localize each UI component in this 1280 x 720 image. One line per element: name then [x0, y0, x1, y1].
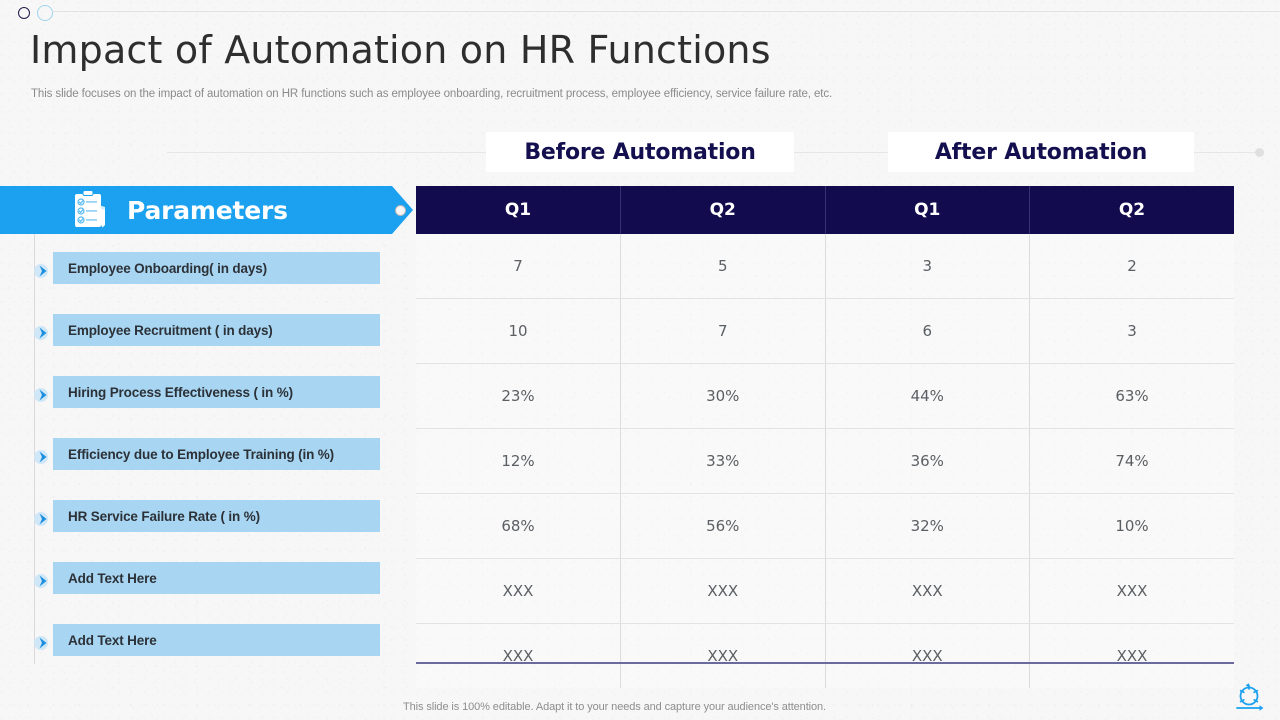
- top-divider-rule: [52, 11, 1280, 12]
- column-header: Q1: [825, 186, 1030, 234]
- parameter-label: Employee Recruitment ( in days): [68, 323, 273, 338]
- parameters-list: Employee Onboarding( in days)Employee Re…: [0, 244, 400, 678]
- table-baseline-rule: [416, 662, 1234, 664]
- parameter-label: Add Text Here: [68, 571, 157, 586]
- chevron-right-icon: [33, 261, 53, 281]
- table-cell: 32%: [825, 494, 1030, 559]
- table-body: 75321076323%30%44%63%12%33%36%74%68%56%3…: [416, 234, 1234, 688]
- top-decoration-bar: [0, 0, 1280, 24]
- table-cell: 3: [1030, 299, 1235, 364]
- list-item[interactable]: Efficiency due to Employee Training (in …: [0, 430, 400, 492]
- chevron-right-icon: [33, 509, 53, 529]
- table-cell: XXX: [416, 624, 621, 689]
- chevron-right-icon: [33, 571, 53, 591]
- chevron-right-icon: [33, 447, 53, 467]
- footer-note: This slide is 100% editable. Adapt it to…: [403, 701, 826, 713]
- parameter-chip[interactable]: Efficiency due to Employee Training (in …: [53, 438, 380, 470]
- table-cell: XXX: [1030, 624, 1235, 689]
- caption-after-automation: After Automation: [888, 132, 1194, 172]
- parameter-chip[interactable]: HR Service Failure Rate ( in %): [53, 500, 380, 532]
- table-row: 68%56%32%10%: [416, 494, 1234, 559]
- table-row: 12%33%36%74%: [416, 429, 1234, 494]
- parameter-chip[interactable]: Add Text Here: [53, 624, 380, 656]
- table-cell: 74%: [1030, 429, 1235, 494]
- table-cell: XXX: [825, 559, 1030, 624]
- parameter-label: Efficiency due to Employee Training (in …: [68, 447, 334, 462]
- table-cell: 23%: [416, 364, 621, 429]
- list-item[interactable]: Add Text Here: [0, 554, 400, 616]
- parameters-banner-label: Parameters: [127, 196, 288, 225]
- chevron-right-icon: [33, 633, 53, 653]
- parameter-chip[interactable]: Employee Recruitment ( in days): [53, 314, 380, 346]
- table-cell: 63%: [1030, 364, 1235, 429]
- table-cell: 6: [825, 299, 1030, 364]
- table-cell: XXX: [621, 624, 826, 689]
- table-cell: 7: [621, 299, 826, 364]
- table-cell: XXX: [825, 624, 1030, 689]
- table-row: 10763: [416, 299, 1234, 364]
- column-header: Q1: [416, 186, 621, 234]
- top-dot-light-icon: [37, 5, 53, 21]
- table-cell: XXX: [621, 559, 826, 624]
- chevron-right-icon: [33, 323, 53, 343]
- table-row: 23%30%44%63%: [416, 364, 1234, 429]
- parameter-label: Add Text Here: [68, 633, 157, 648]
- table-cell: 10%: [1030, 494, 1235, 559]
- table-cell: 12%: [416, 429, 621, 494]
- list-item[interactable]: Employee Onboarding( in days): [0, 244, 400, 306]
- page-title: Impact of Automation on HR Functions: [30, 28, 771, 72]
- list-item[interactable]: Hiring Process Effectiveness ( in %): [0, 368, 400, 430]
- banner-bracket-horizontal: [0, 233, 59, 234]
- table-cell: 36%: [825, 429, 1030, 494]
- table-cell: 3: [825, 234, 1030, 299]
- table-cell: 68%: [416, 494, 621, 559]
- clipboard-checklist-icon: [72, 190, 110, 230]
- table-row: 7532: [416, 234, 1234, 299]
- comparison-table: Q1Q2Q1Q2 75321076323%30%44%63%12%33%36%7…: [416, 186, 1234, 688]
- parameter-label: Hiring Process Effectiveness ( in %): [68, 385, 293, 400]
- parameters-banner-knob-icon: [395, 205, 406, 216]
- table-cell: 10: [416, 299, 621, 364]
- table-row: XXXXXXXXXXXX: [416, 624, 1234, 689]
- table-header-row: Q1Q2Q1Q2: [416, 186, 1234, 234]
- parameter-label: HR Service Failure Rate ( in %): [68, 509, 260, 524]
- table-cell: XXX: [1030, 559, 1235, 624]
- table-cell: 33%: [621, 429, 826, 494]
- chevron-right-icon: [33, 385, 53, 405]
- list-item[interactable]: Employee Recruitment ( in days): [0, 306, 400, 368]
- table-cell: 2: [1030, 234, 1235, 299]
- table-cell: XXX: [416, 559, 621, 624]
- top-dot-dark-icon: [18, 7, 30, 19]
- banner-bracket-vertical: [58, 186, 59, 234]
- circular-arrow-logo: [1233, 682, 1267, 714]
- column-header: Q2: [621, 186, 826, 234]
- parameter-label: Employee Onboarding( in days): [68, 261, 267, 276]
- list-item[interactable]: HR Service Failure Rate ( in %): [0, 492, 400, 554]
- table-cell: 5: [621, 234, 826, 299]
- parameter-chip[interactable]: Employee Onboarding( in days): [53, 252, 380, 284]
- table-cell: 7: [416, 234, 621, 299]
- table-row: XXXXXXXXXXXX: [416, 559, 1234, 624]
- column-header: Q2: [1030, 186, 1235, 234]
- page-subtitle: This slide focuses on the impact of auto…: [31, 88, 832, 100]
- parameter-chip[interactable]: Add Text Here: [53, 562, 380, 594]
- parameter-chip[interactable]: Hiring Process Effectiveness ( in %): [53, 376, 380, 408]
- table-cell: 56%: [621, 494, 826, 559]
- table-cell: 44%: [825, 364, 1030, 429]
- list-item[interactable]: Add Text Here: [0, 616, 400, 678]
- connector-end-knob-icon: [1255, 148, 1264, 157]
- table-cell: 30%: [621, 364, 826, 429]
- caption-before-automation: Before Automation: [486, 132, 794, 172]
